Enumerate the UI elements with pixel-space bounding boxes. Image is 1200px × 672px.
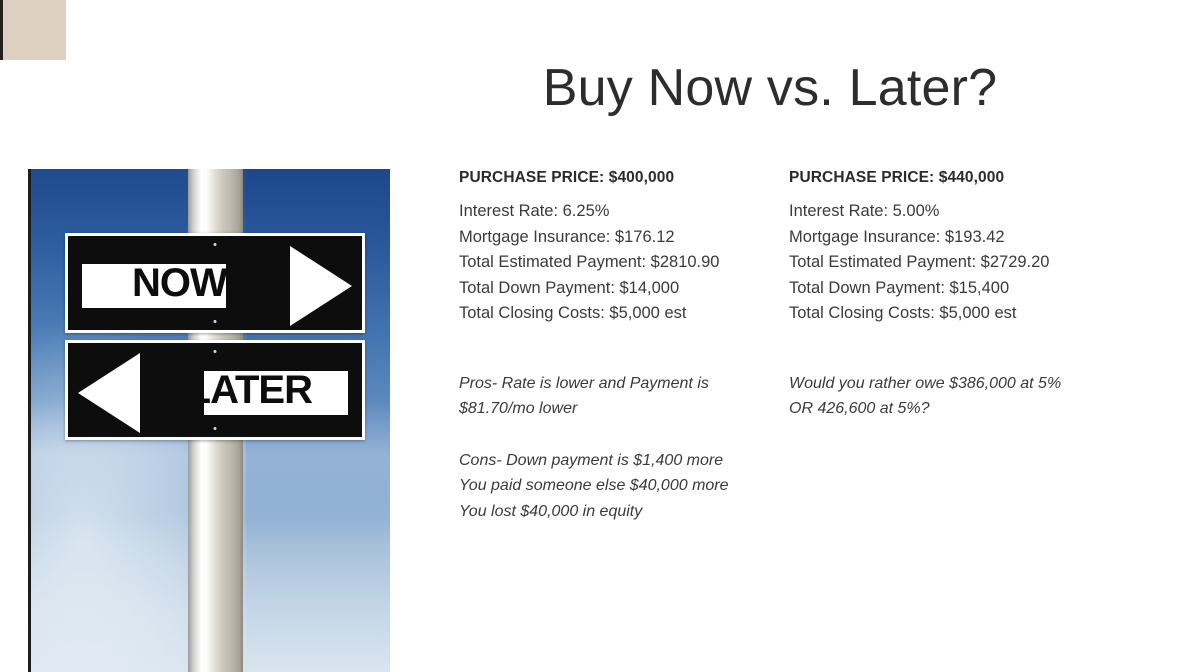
detail-mortgage-insurance: Mortgage Insurance: $176.12 [459, 225, 779, 251]
note-question: Would you rather owe $386,000 at 5% OR 4… [789, 371, 1109, 422]
note-cons-line-2: You paid someone else $40,000 more [459, 473, 779, 499]
note-pros-line-1: Pros- Rate is lower and Payment is [459, 371, 779, 397]
detail-total-closing-costs: Total Closing Costs: $5,000 est [789, 301, 1109, 327]
street-sign-photo: NOW LATER [28, 169, 390, 672]
sign-later-inner: LATER [72, 347, 358, 433]
column-buy-now: PURCHASE PRICE: $400,000 Interest Rate: … [459, 169, 779, 524]
detail-interest-rate: Interest Rate: 5.00% [789, 199, 1109, 225]
note-cons-line-1: Cons- Down payment is $1,400 more [459, 448, 779, 474]
note-pros: Pros- Rate is lower and Payment is $81.7… [459, 371, 779, 422]
sign-now: NOW [65, 233, 365, 333]
column-heading-buy-now: PURCHASE PRICE: $400,000 [459, 169, 779, 187]
sign-bolt-bottom [214, 320, 217, 323]
slide-canvas: Buy Now vs. Later? NOW LATER [0, 0, 1200, 672]
sign-now-label: NOW [132, 263, 227, 303]
sign-bolt-top [214, 243, 217, 246]
detail-list-buy-later: Interest Rate: 5.00% Mortgage Insurance:… [789, 199, 1109, 327]
note-question-line-2: OR 426,600 at 5%? [789, 396, 1109, 422]
column-heading-buy-later: PURCHASE PRICE: $440,000 [789, 169, 1109, 187]
detail-total-estimated-payment: Total Estimated Payment: $2729.20 [789, 250, 1109, 276]
accent-block [0, 0, 66, 60]
left-arrow-icon-head [78, 353, 140, 433]
sign-later-label: LATER [187, 370, 312, 410]
sign-bolt-bottom [214, 427, 217, 430]
note-cons: Cons- Down payment is $1,400 more You pa… [459, 448, 779, 525]
detail-total-down-payment: Total Down Payment: $14,000 [459, 276, 779, 302]
note-question-line-1: Would you rather owe $386,000 at 5% [789, 371, 1109, 397]
detail-total-estimated-payment: Total Estimated Payment: $2810.90 [459, 250, 779, 276]
page-title: Buy Now vs. Later? [420, 58, 1120, 118]
right-arrow-icon-head [290, 246, 352, 326]
note-cons-line-3: You lost $40,000 in equity [459, 499, 779, 525]
sign-now-inner: NOW [72, 240, 358, 326]
detail-mortgage-insurance: Mortgage Insurance: $193.42 [789, 225, 1109, 251]
detail-total-down-payment: Total Down Payment: $15,400 [789, 276, 1109, 302]
accent-block-edge [0, 0, 3, 60]
column-buy-later: PURCHASE PRICE: $440,000 Interest Rate: … [789, 169, 1109, 422]
detail-total-closing-costs: Total Closing Costs: $5,000 est [459, 301, 779, 327]
sign-later: LATER [65, 340, 365, 440]
sign-bolt-top [214, 350, 217, 353]
detail-interest-rate: Interest Rate: 6.25% [459, 199, 779, 225]
note-pros-line-2: $81.70/mo lower [459, 396, 779, 422]
detail-list-buy-now: Interest Rate: 6.25% Mortgage Insurance:… [459, 199, 779, 327]
